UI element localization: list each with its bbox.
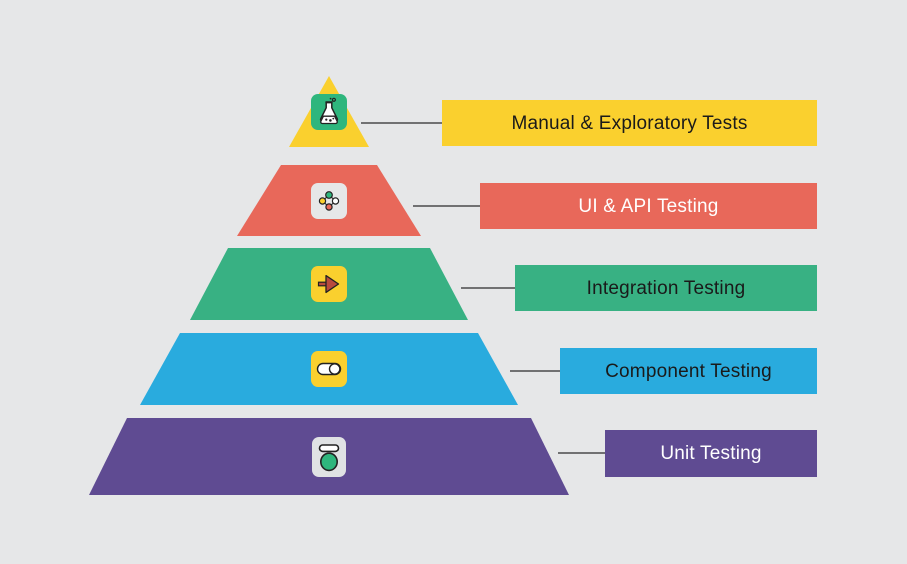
tier-icon-ui-api-testing	[309, 181, 349, 221]
node-cluster-icon	[311, 183, 347, 219]
tier-label-box-integration-testing[interactable]: Integration Testing	[515, 265, 817, 311]
record-button-icon	[312, 437, 346, 477]
tier-icon-integration-testing	[309, 264, 349, 304]
arrow-right-icon	[311, 266, 347, 302]
tier-icon-unit-testing	[309, 437, 349, 477]
toggle-switch-icon	[311, 351, 347, 387]
tier-icon-component-testing	[309, 349, 349, 389]
tier-label-box-ui-api-testing[interactable]: UI & API Testing	[480, 183, 817, 229]
tier-label-box-component-testing[interactable]: Component Testing	[560, 348, 817, 394]
tier-label-text-ui-api-testing: UI & API Testing	[578, 197, 718, 216]
tier-label-text-integration-testing: Integration Testing	[587, 279, 746, 298]
tier-label-text-component-testing: Component Testing	[605, 362, 772, 381]
tier-label-box-manual-exploratory-tests[interactable]: Manual & Exploratory Tests	[442, 100, 817, 146]
tier-icon-manual-exploratory-tests	[309, 92, 349, 132]
diagram-canvas: Manual & Exploratory TestsUI & API Testi…	[0, 0, 907, 564]
tier-label-text-manual-exploratory-tests: Manual & Exploratory Tests	[511, 114, 747, 133]
flask-icon	[311, 94, 347, 130]
tier-label-text-unit-testing: Unit Testing	[660, 444, 761, 463]
tier-label-box-unit-testing[interactable]: Unit Testing	[605, 430, 817, 477]
